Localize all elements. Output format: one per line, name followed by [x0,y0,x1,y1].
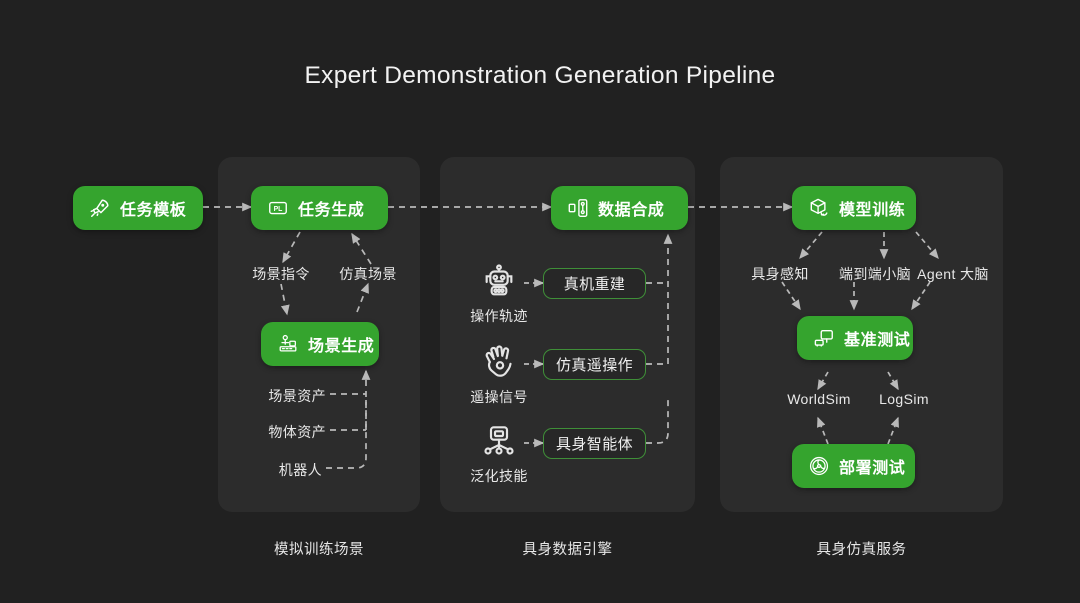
caption-data-engine: 具身数据引擎 [440,538,695,559]
label-sim-scene: 仿真场景 [325,264,411,284]
pill-task-generation[interactable]: PL 任务生成 [251,186,388,230]
pill-deployment-test[interactable]: 部署测试 [792,444,915,488]
pl-badge-icon: PL [267,197,289,219]
box-simulated-teleoperation[interactable]: 仿真遥操作 [543,349,646,380]
label-worldsim: WorldSim [774,391,864,407]
pill-label: 模型训练 [839,196,905,220]
svg-text:PL: PL [274,206,283,213]
pill-label: 基准测试 [844,326,910,350]
caption-sim-training: 模拟训练场景 [218,538,420,559]
box-label: 具身智能体 [556,433,633,454]
label-operation-trajectory: 操作轨迹 [461,306,537,326]
glove-icon [479,341,519,381]
data-sync-icon [567,197,589,219]
cube-reload-icon [808,197,830,219]
label-robot: 机器人 [230,460,322,480]
pill-label: 场景生成 [308,332,374,356]
pill-label: 任务生成 [298,196,364,220]
pill-label: 部署测试 [839,454,905,478]
agent-icon [479,420,519,460]
page-title: Expert Demonstration Generation Pipeline [0,62,1080,90]
monitor-icon [813,327,835,349]
box-label: 仿真遥操作 [556,354,633,375]
label-teleop-signal: 遥操信号 [461,387,537,407]
pill-model-training[interactable]: 模型训练 [792,186,916,230]
brain-circle-icon [808,455,830,477]
label-agent-brain: Agent 大脑 [900,264,1006,284]
box-real-machine-reconstruction[interactable]: 真机重建 [543,268,646,299]
label-logsim: LogSim [864,391,944,407]
robot-icon [479,262,519,302]
caption-sim-service: 具身仿真服务 [720,538,1003,559]
box-label: 真机重建 [564,273,626,294]
box-embodied-agent[interactable]: 具身智能体 [543,428,646,459]
scene-robot-icon [277,333,299,355]
label-object-assets: 物体资产 [230,422,326,442]
rocket-icon [89,197,111,219]
pill-data-synthesis[interactable]: 数据合成 [551,186,688,230]
label-scene-assets: 场景资产 [230,386,326,406]
pill-label: 任务模板 [120,196,186,220]
pill-scene-generation[interactable]: 场景生成 [261,322,379,366]
pill-task-template[interactable]: 任务模板 [73,186,203,230]
pill-label: 数据合成 [598,196,664,220]
label-generalization-skill: 泛化技能 [461,466,537,486]
pill-benchmark-test[interactable]: 基准测试 [797,316,913,360]
pipeline-diagram: Expert Demonstration Generation Pipeline [0,0,1080,603]
label-scene-instruction: 场景指令 [238,264,324,284]
label-embodied-perception: 具身感知 [738,264,822,284]
